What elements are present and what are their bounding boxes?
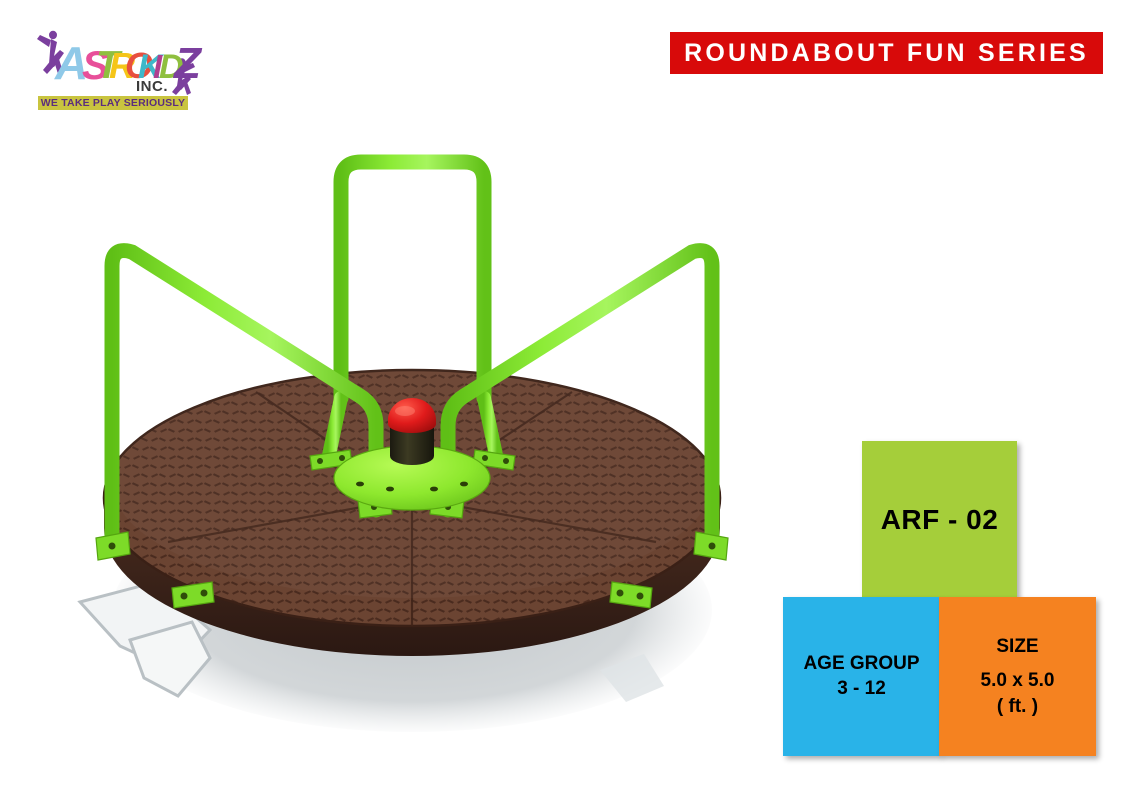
product-code-label: ARF - 02 (881, 504, 999, 536)
size-label: SIZE (996, 634, 1038, 660)
logo-inc-text: INC. (136, 78, 168, 95)
size-unit: ( ft. ) (997, 694, 1038, 720)
logo-wordmark: A S T R O K I D Z (54, 37, 203, 89)
age-group-value: 3 - 12 (837, 677, 886, 702)
age-group-label: AGE GROUP (803, 652, 919, 677)
size-value: 5.0 x 5.0 (981, 668, 1055, 694)
age-group-box: AGE GROUP 3 - 12 (783, 597, 940, 756)
product-illustration (60, 130, 760, 770)
size-box: SIZE 5.0 x 5.0 ( ft. ) (939, 597, 1096, 756)
astrokidz-logo: A S T R O K I D Z INC. WE TAKE PLAY SERI… (30, 26, 210, 118)
logo-tagline: WE TAKE PLAY SERIOUSLY (38, 96, 188, 110)
catalog-page: A S T R O K I D Z INC. WE TAKE PLAY SERI… (0, 0, 1134, 794)
product-code-box: ARF - 02 (862, 441, 1017, 599)
svg-text:Z: Z (172, 39, 203, 88)
product-info-boxes: ARF - 02 AGE GROUP 3 - 12 SIZE 5.0 x 5.0… (783, 441, 1103, 761)
series-title-banner: ROUNDABOUT FUN SERIES (670, 32, 1103, 74)
